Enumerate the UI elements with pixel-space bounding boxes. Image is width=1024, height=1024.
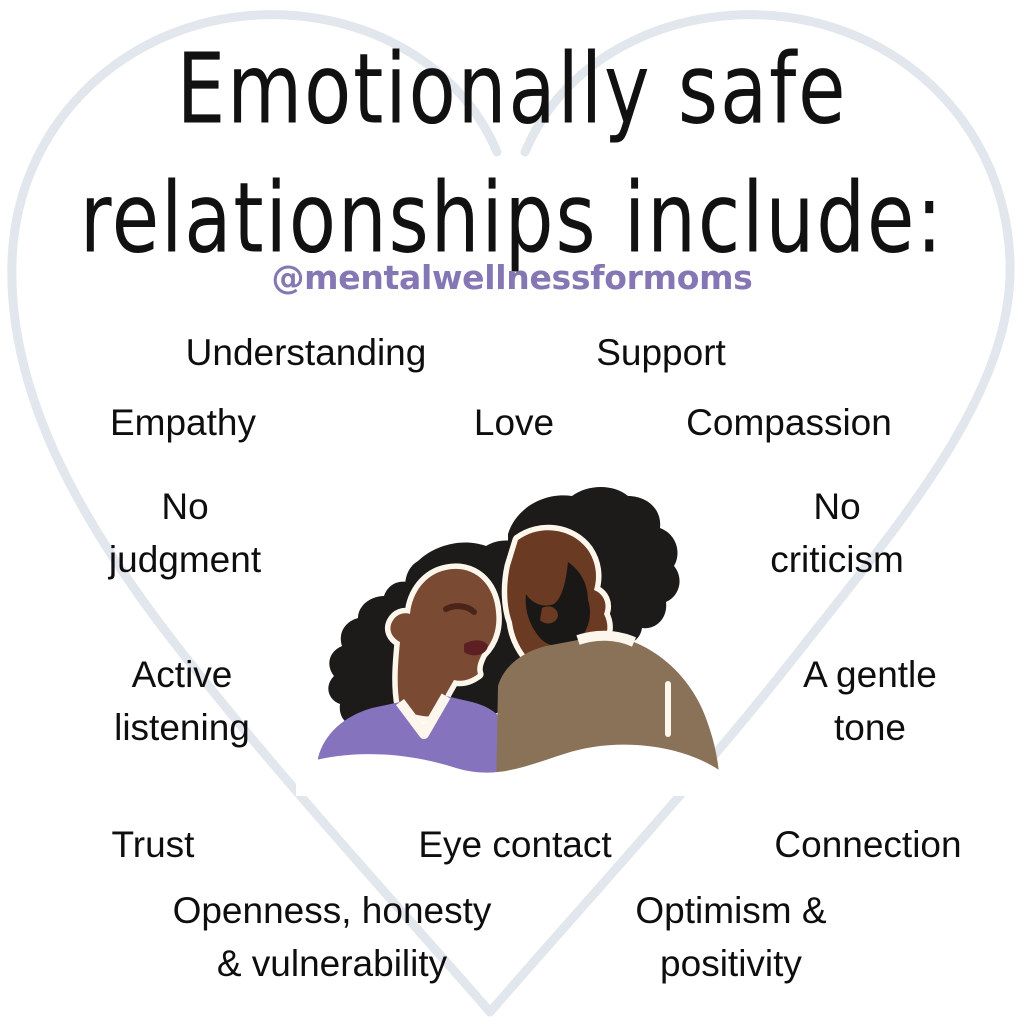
- quality-optimism: Optimism & positivity: [584, 884, 878, 990]
- quality-connection: Connection: [728, 818, 1008, 871]
- title-line-1: Emotionally safe: [31, 28, 994, 152]
- quality-love: Love: [434, 396, 594, 449]
- quality-support: Support: [556, 326, 766, 379]
- page-title: Emotionally safe relationships include:: [0, 28, 1024, 262]
- quality-openness: Openness, honesty & vulnerability: [138, 884, 526, 990]
- quality-no-judgment: No judgment: [86, 480, 284, 586]
- quality-gentle-tone: A gentle tone: [780, 648, 960, 754]
- quality-no-criticism: No criticism: [740, 480, 934, 586]
- quality-understanding: Understanding: [156, 326, 456, 379]
- couple-illustration: [296, 466, 736, 796]
- quality-trust: Trust: [58, 818, 248, 871]
- poster-canvas: Emotionally safe relationships include: …: [0, 0, 1024, 1024]
- quality-empathy: Empathy: [78, 396, 288, 449]
- quality-active-listening: Active listening: [82, 648, 282, 754]
- account-handle[interactable]: @mentalwellnessformoms: [0, 258, 1024, 297]
- quality-compassion: Compassion: [664, 396, 914, 449]
- quality-eye-contact: Eye contact: [380, 818, 650, 871]
